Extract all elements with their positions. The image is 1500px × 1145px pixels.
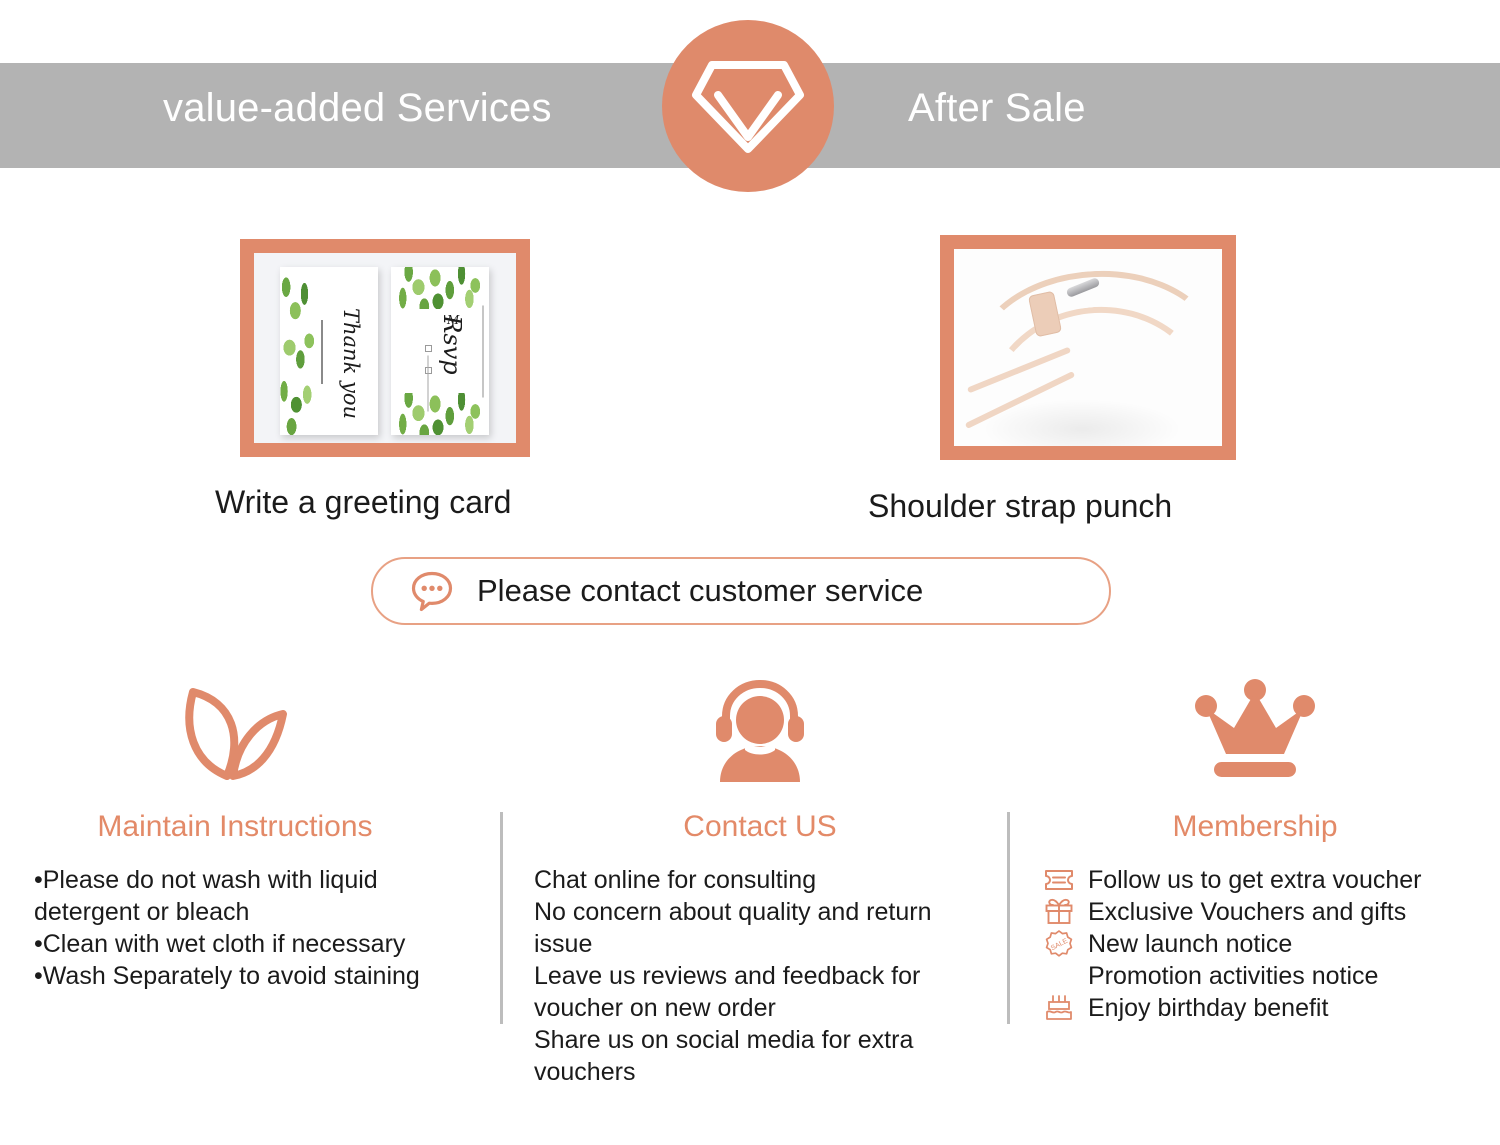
column-title-maintain: Maintain Instructions (0, 810, 470, 844)
contact-customer-service-button[interactable]: Please contact customer service (371, 557, 1111, 625)
list-item: Follow us to get extra voucher (1042, 864, 1490, 896)
gift-icon (1042, 896, 1076, 928)
list-item: •Wash Separately to avoid staining (34, 960, 444, 992)
benefit-label: New launch notice (1088, 929, 1292, 960)
chat-bubble-icon (409, 568, 455, 614)
headset-agent-icon (520, 672, 1000, 792)
leaf-decoration (280, 267, 314, 435)
rsvp-m-label: M (447, 313, 459, 327)
list-item: Enjoy birthday benefit (1042, 992, 1490, 1024)
rsvp-checkbox-decline (425, 367, 432, 374)
column-membership: Membership Follow us to get extra vouche… (1020, 672, 1490, 1024)
benefit-label: Enjoy birthday benefit (1088, 993, 1328, 1024)
benefit-label: Follow us to get extra voucher (1088, 865, 1422, 896)
column-maintain-instructions: Maintain Instructions •Please do not was… (0, 672, 470, 992)
greeting-card-caption: Write a greeting card (215, 484, 511, 521)
list-item: Share us on social media for extra vouch… (534, 1024, 990, 1088)
list-item: Exclusive Vouchers and gifts (1042, 896, 1490, 928)
column-contact-us: Contact US Chat online for consulting No… (520, 672, 1000, 1088)
page-root: value-added Services After Sale Thank yo… (0, 0, 1500, 1145)
leaf-decoration-bottom (391, 393, 489, 435)
column-title-contact: Contact US (520, 810, 1000, 844)
rsvp-checkbox-accept (425, 345, 432, 352)
column-title-membership: Membership (1020, 810, 1490, 844)
header-title-right: After Sale (908, 86, 1086, 131)
svg-text:SALE: SALE (1050, 937, 1069, 952)
contact-info-list: Chat online for consulting No concern ab… (520, 864, 1000, 1088)
maintain-instruction-list: •Please do not wash with liquid detergen… (0, 864, 470, 992)
list-item: •Please do not wash with liquid detergen… (34, 864, 444, 928)
rsvp-write-rule (483, 306, 484, 398)
greeting-card-photo: Thank you Rsvp M (254, 253, 516, 443)
benefit-label: Promotion activities notice (1088, 961, 1378, 992)
shoulder-strap-caption: Shoulder strap punch (868, 488, 1172, 525)
greeting-card-photo-frame: Thank you Rsvp M (240, 239, 530, 457)
rsvp-card: Rsvp M (391, 267, 489, 435)
list-item: No concern about quality and return issu… (534, 896, 990, 960)
crown-icon (1020, 672, 1490, 792)
list-item: Chat online for consulting (534, 864, 990, 896)
leaf-decoration-top (391, 267, 489, 309)
diamond-v-logo-icon (688, 51, 808, 161)
thank-you-card: Thank you (280, 267, 378, 435)
leaves-icon (0, 672, 470, 792)
rsvp-decline-line (428, 378, 429, 412)
list-item: SALE New launch notice (1042, 928, 1490, 960)
birthday-cake-icon (1042, 992, 1076, 1024)
shoulder-strap-photo-frame (940, 235, 1236, 460)
header-title-left: value-added Services (163, 86, 552, 131)
column-divider-2 (1007, 812, 1010, 1024)
sale-badge-icon: SALE (1042, 928, 1076, 960)
thank-you-subline (321, 320, 323, 384)
column-divider-1 (500, 812, 503, 1024)
list-item: Promotion activities notice (1042, 960, 1490, 992)
contact-customer-service-label: Please contact customer service (477, 573, 923, 609)
ticket-icon (1042, 864, 1076, 896)
membership-benefit-list: Follow us to get extra voucher Exclusive… (1020, 864, 1490, 1024)
no-icon-placeholder (1042, 960, 1076, 992)
benefit-label: Exclusive Vouchers and gifts (1088, 897, 1406, 928)
leather-strap-photo (954, 249, 1222, 446)
list-item: •Clean with wet cloth if necessary (34, 928, 444, 960)
list-item: Leave us reviews and feedback for vouche… (534, 960, 990, 1024)
thank-you-text: Thank you (339, 308, 363, 398)
brand-logo (662, 20, 834, 192)
